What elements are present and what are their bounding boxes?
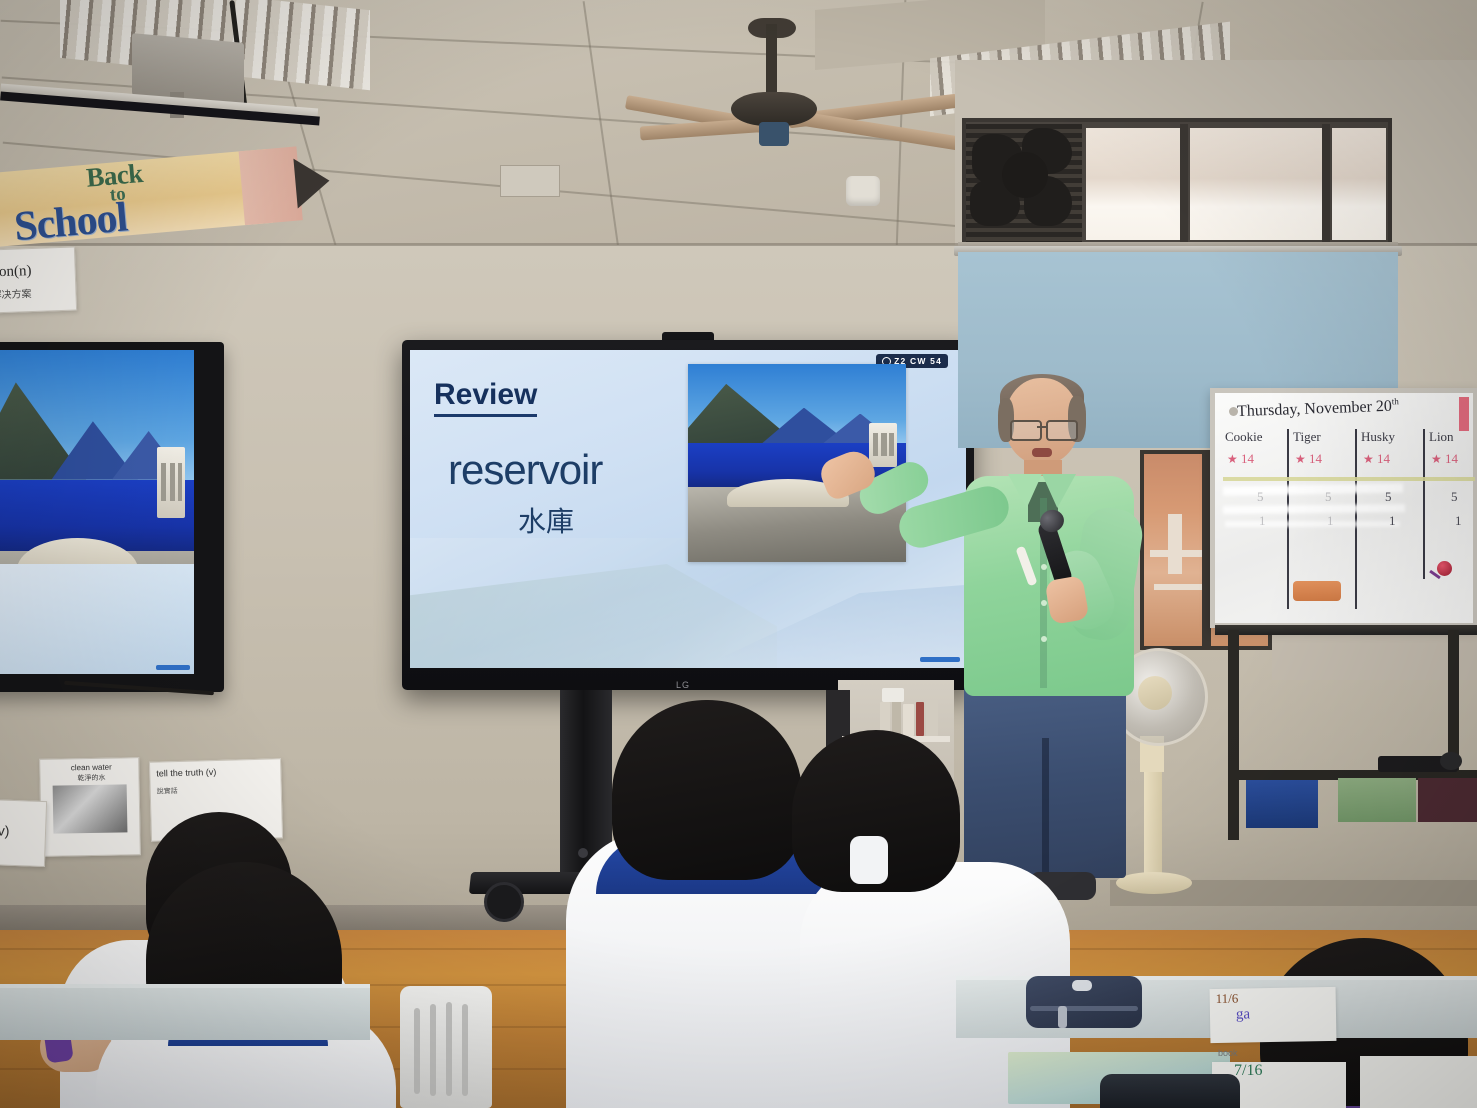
- teacher-mouth: [1032, 448, 1052, 457]
- word-card-image: [53, 784, 128, 833]
- window-mullion: [1322, 124, 1330, 246]
- banner-pencil-tip: [293, 156, 331, 209]
- whiteboard-tally: 5: [1385, 489, 1392, 505]
- projector-mount: [132, 33, 244, 105]
- word-card-zh: 解决方案: [0, 285, 32, 301]
- face-mask: [850, 836, 888, 884]
- whiteboard-team-score: ★ 14: [1431, 451, 1458, 467]
- desk-left: [0, 988, 370, 1040]
- classroom-scene: e Back to School tion(n) 解决方案 clean wate…: [0, 0, 1477, 1108]
- left-tv-screen: [0, 350, 194, 674]
- shirt-button: [1041, 600, 1047, 606]
- pencil-case-zipper-pull[interactable]: [1058, 1006, 1067, 1028]
- note-small-text: book: [1218, 1048, 1238, 1058]
- display-brand-logo: LG: [676, 680, 690, 690]
- whiteboard-divider: [1355, 429, 1357, 609]
- word-card-en: clean water: [46, 762, 136, 773]
- paper-sheet: [1360, 1056, 1477, 1108]
- whiteboard-team-name: Cookie: [1225, 429, 1263, 445]
- whiteboard-date: Thursday, November 20th: [1237, 396, 1400, 421]
- whiteboard-team-score: ★ 14: [1295, 451, 1322, 467]
- word-card-en: tion(n): [0, 263, 32, 281]
- slide-vocabulary-word: reservoir: [448, 446, 602, 494]
- whiteboard-glare: [1223, 483, 1403, 495]
- display-power-indicator: [578, 848, 588, 858]
- towel-green: [1338, 778, 1416, 822]
- whiteboard-glare: [1223, 504, 1405, 514]
- whiteboard-marker-tray: [1215, 625, 1477, 635]
- slide-reservoir-image: [688, 364, 906, 562]
- ceiling-fan-light: [759, 122, 789, 146]
- smoke-detector: [846, 176, 880, 206]
- teacher-hand-left: [1044, 575, 1089, 625]
- ceiling-fan-rod: [766, 24, 777, 102]
- whiteboard-team-score: ★ 14: [1363, 451, 1390, 467]
- whiteboard-horizontal-line: [1223, 477, 1475, 481]
- word-card-v: (v): [0, 799, 47, 867]
- slide-title: Review: [434, 378, 537, 417]
- word-card-clean-water: clean water 乾淨的水: [39, 757, 141, 857]
- whiteboard-team-name: Lion: [1429, 429, 1454, 445]
- shirt-button: [1041, 564, 1047, 570]
- left-tv-progress: [156, 665, 190, 670]
- whiteboard-team-score: ★ 14: [1227, 451, 1254, 467]
- whiteboard-divider: [1423, 429, 1425, 579]
- whiteboard-eraser[interactable]: [1293, 581, 1341, 601]
- electrical-box: [500, 165, 560, 197]
- whiteboard-tally: 1: [1455, 513, 1462, 529]
- word-card-en: (v): [0, 822, 10, 839]
- glasses-lens-icon: [1010, 420, 1042, 441]
- shirt-button: [1041, 636, 1047, 642]
- whiteboard-assembly: Thursday, November 20th Cookie Tiger Hus…: [1210, 388, 1477, 636]
- note-text: ga: [1236, 1006, 1250, 1023]
- word-card-zh: 乾淨的水: [46, 772, 136, 784]
- word-card-en: tell the truth (v): [156, 767, 216, 779]
- slide-translation: 水庫: [518, 500, 574, 540]
- left-tv-display[interactable]: [0, 342, 224, 692]
- whiteboard-tally: 1: [1259, 513, 1266, 529]
- glasses-bridge: [1037, 426, 1047, 428]
- banner-line-school: School: [12, 193, 129, 251]
- dam-tower-icon: [157, 447, 185, 518]
- window-mullion: [1180, 124, 1188, 246]
- whiteboard-tally: 1: [1327, 513, 1334, 529]
- whiteboard-team-name: Husky: [1361, 429, 1395, 445]
- whiteboard-date-text: Thursday, November 20: [1237, 398, 1392, 420]
- backpack: [1100, 1074, 1240, 1108]
- whiteboard-divider: [1287, 429, 1289, 609]
- whiteboard-date-suffix: th: [1392, 396, 1399, 406]
- whiteboard-tally: 5: [1451, 489, 1458, 505]
- towel-maroon: [1418, 778, 1477, 822]
- whiteboard-tally: 1: [1389, 513, 1396, 529]
- whiteboard-tally: 5: [1257, 489, 1264, 505]
- banner-text-group: e Back to School: [0, 150, 263, 246]
- handwritten-note: 11/6 ga: [1210, 987, 1337, 1043]
- left-tv-lower-band: [0, 564, 194, 674]
- whiteboard-tally: 5: [1325, 489, 1332, 505]
- note-heading: 11/6: [1216, 991, 1239, 1007]
- stand-caster: [484, 882, 524, 922]
- whiteboard-glare: [1225, 521, 1400, 527]
- note-text: 7/16: [1234, 1062, 1262, 1080]
- whiteboard-team-name: Tiger: [1293, 429, 1321, 445]
- word-card-zh: 說實話: [157, 786, 178, 797]
- whiteboard[interactable]: Thursday, November 20th Cookie Tiger Hus…: [1210, 388, 1477, 628]
- pencil-case-tag: [1072, 980, 1092, 991]
- glasses-lens-icon: [1046, 420, 1078, 441]
- whiteboard-stand-leg: [1228, 630, 1239, 840]
- pencil-case-zipper[interactable]: [1030, 1006, 1138, 1011]
- window-pane: [1190, 128, 1326, 240]
- window-pane: [1086, 128, 1182, 240]
- student-hair: [612, 700, 802, 880]
- teacher-jeans-seam: [1042, 738, 1049, 888]
- chair[interactable]: [400, 986, 492, 1108]
- whiteboard-magnet-red[interactable]: [1437, 561, 1452, 576]
- word-card-tion: tion(n) 解决方案: [0, 246, 77, 313]
- towel-blue: [1246, 780, 1318, 828]
- ceiling-fan-motor: [731, 92, 817, 126]
- window-pane: [1332, 128, 1386, 240]
- whiteboard-red-mark: [1459, 397, 1469, 431]
- exhaust-fan-hub: [1002, 152, 1048, 198]
- headphones-on-shelf: [1440, 752, 1462, 770]
